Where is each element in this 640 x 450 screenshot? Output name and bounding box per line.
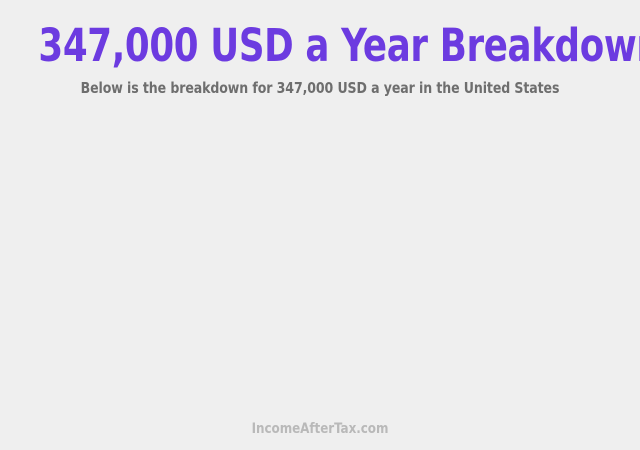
breakdown-content-region (0, 112, 640, 410)
page-title: 347,000 USD a Year Breakdown (38, 21, 601, 70)
footer-brand-label: IncomeAfterTax.com (16, 421, 624, 437)
page-root: 347,000 USD a Year Breakdown Below is th… (0, 0, 640, 450)
page-footer: IncomeAfterTax.com (0, 421, 640, 437)
page-subtitle: Below is the breakdown for 347,000 USD a… (22, 70, 617, 97)
page-header: 347,000 USD a Year Breakdown Below is th… (0, 0, 640, 97)
